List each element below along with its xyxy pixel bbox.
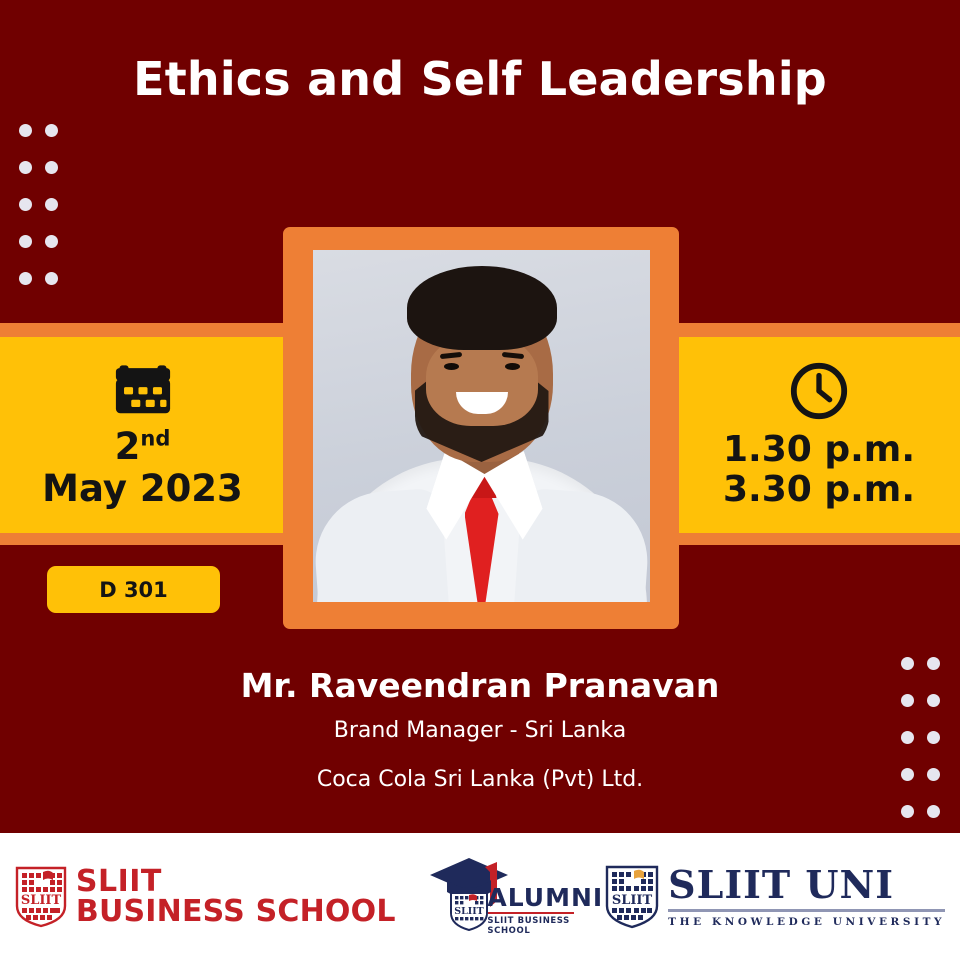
dot: [45, 198, 58, 211]
dot: [45, 272, 58, 285]
bs-line2: BUSINESS SCHOOL: [76, 897, 396, 926]
alumni-line2: SLIIT BUSINESS SCHOOL: [487, 916, 603, 936]
bs-wordmark: SLIIT BUSINESS SCHOOL: [76, 867, 396, 926]
calendar-icon: [114, 360, 172, 416]
speaker-photo: [313, 250, 650, 602]
photo-hair: [407, 266, 557, 350]
time-end: 3.30 p.m.: [723, 470, 915, 510]
divider: [668, 909, 945, 912]
uni-line2: THE KNOWLEDGE UNIVERSITY: [668, 916, 945, 928]
dot: [19, 198, 32, 211]
speaker-role: Brand Manager - Sri Lanka: [0, 718, 960, 743]
time-start: 1.30 p.m.: [723, 430, 915, 470]
logo-sliit-alumni: SLIIT ALUMNI SLIIT BUSINESS SCHOOL: [425, 849, 575, 945]
speaker-photo-frame: [283, 227, 679, 629]
dot: [19, 161, 32, 174]
footer-logo-bar: SLIIT SLIIT BUSINESS SCHOOL: [0, 833, 960, 960]
logo-sliit-business-school: SLIIT SLIIT BUSINESS SCHOOL: [15, 866, 396, 928]
decorative-dot-grid-left: [12, 112, 64, 297]
dot: [45, 235, 58, 248]
dot: [19, 235, 32, 248]
venue-badge: D 301: [47, 566, 220, 613]
divider: [488, 912, 574, 914]
logo-sliit-uni: SLIIT SLIIT UNI THE KNOWLEDGE UNIVERSITY: [605, 865, 945, 929]
crest-label: SLIIT: [612, 893, 653, 908]
sliit-uni-crest-icon: SLIIT: [605, 865, 659, 929]
dot: [19, 124, 32, 137]
dot: [19, 272, 32, 285]
time-block: 1.30 p.m. 3.30 p.m.: [678, 337, 960, 533]
date-day-suffix: nd: [140, 426, 170, 450]
crest-label: SLIIT: [455, 906, 485, 917]
uni-wordmark: SLIIT UNI THE KNOWLEDGE UNIVERSITY: [668, 866, 945, 928]
speaker-details: Mr. Raveendran Pranavan Brand Manager - …: [0, 666, 960, 792]
crest-label: SLIIT: [21, 893, 62, 908]
dot: [901, 805, 914, 818]
event-poster: Ethics and Self Leadership: [0, 0, 960, 960]
clock-icon: [788, 360, 850, 422]
dot: [45, 161, 58, 174]
date-month-year: May 2023: [42, 468, 243, 511]
speaker-name: Mr. Raveendran Pranavan: [0, 666, 960, 706]
alumni-wordmark: ALUMNI SLIIT BUSINESS SCHOOL: [487, 885, 603, 936]
date-day-number: 2: [115, 425, 141, 468]
sliit-crest-icon: SLIIT: [15, 866, 67, 928]
alumni-line1: ALUMNI: [487, 885, 603, 910]
dot: [45, 124, 58, 137]
page-title: Ethics and Self Leadership: [0, 52, 960, 106]
photo-eye-left: [444, 363, 459, 370]
photo-eye-right: [505, 363, 520, 370]
uni-line1: SLIIT UNI: [668, 866, 945, 904]
date-block: 2nd May 2023: [0, 337, 285, 533]
bs-line1: SLIIT: [76, 867, 396, 896]
dot: [927, 805, 940, 818]
date-day: 2nd: [115, 428, 171, 465]
speaker-organization: Coca Cola Sri Lanka (Pvt) Ltd.: [0, 767, 960, 792]
